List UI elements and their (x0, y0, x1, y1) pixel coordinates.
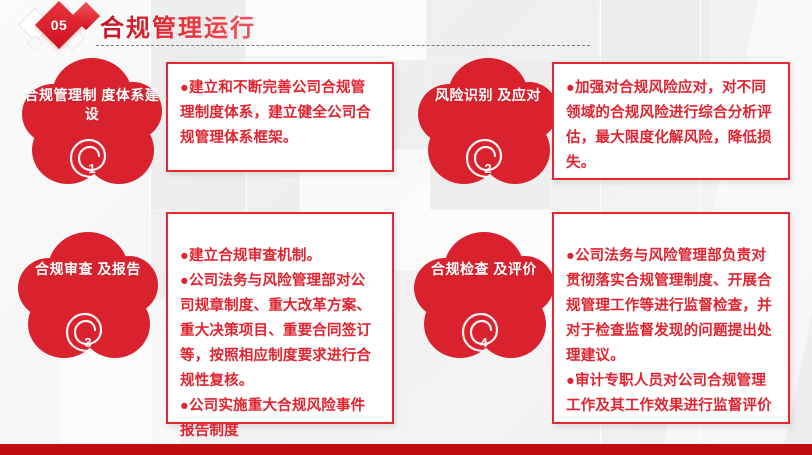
badge-label: 合规管理制 度体系建设 (22, 86, 162, 124)
step-number: 05 (42, 8, 76, 42)
card-text: ●公司法务与风险管理部负责对贯彻落实合规管理制度、开展合规管理工作等进行监督检查… (566, 244, 776, 419)
header-divider (96, 45, 590, 46)
diamond-decor-icon (28, 36, 42, 50)
page-title: 合规管理运行 (100, 8, 256, 43)
slide-canvas: 05 合规管理运行 合规管理制 度体系建设 1 ●建立和不断完善公司合规管理制度… (0, 0, 812, 455)
slide-header: 05 合规管理运行 (0, 0, 812, 55)
content-card-2: ●加强对合规风险应对，对不同领域的合规风险进行综合分析评估，最大限度化解风险，降… (552, 62, 790, 180)
badge-number: 4 (458, 304, 510, 356)
spiral-icon: 1 (66, 130, 118, 182)
badge-label: 合规检查 及评价 (414, 260, 554, 279)
footer-bar (0, 444, 812, 455)
card-text: ●加强对合规风险应对，对不同领域的合规风险进行综合分析评估，最大限度化解风险，降… (566, 76, 776, 176)
badge-label: 合规审查 及报告 (18, 260, 158, 279)
step-badge-4[interactable]: 合规检查 及评价 4 (414, 232, 554, 362)
badge-label: 风险识别 及应对 (418, 86, 558, 105)
spiral-icon: 2 (462, 130, 514, 182)
spiral-icon: 3 (62, 304, 114, 356)
content-card-4: ●公司法务与风险管理部负责对贯彻落实合规管理制度、开展合规管理工作等进行监督检查… (552, 212, 790, 424)
badge-number: 3 (62, 304, 114, 356)
card-text: ●建立和不断完善公司合规管理制度体系，建立健全公司合规管理体系框架。 (180, 76, 380, 151)
step-badge-1[interactable]: 合规管理制 度体系建设 1 (22, 58, 162, 188)
step-badge-3[interactable]: 合规审查 及报告 3 (18, 232, 158, 362)
card-text: ●建立合规审查机制。 ●公司法务与风险管理部对公司规章制度、重大改革方案、重大决… (180, 244, 380, 444)
badge-number: 2 (462, 130, 514, 182)
content-card-3: ●建立合规审查机制。 ●公司法务与风险管理部对公司规章制度、重大改革方案、重大决… (166, 212, 394, 424)
step-badge-diamonds: 05 (18, 2, 108, 52)
badge-number: 1 (66, 130, 118, 182)
step-badge-2[interactable]: 风险识别 及应对 2 (418, 58, 558, 188)
content-card-1: ●建立和不断完善公司合规管理制度体系，建立健全公司合规管理体系框架。 (166, 62, 394, 172)
spiral-icon: 4 (458, 304, 510, 356)
